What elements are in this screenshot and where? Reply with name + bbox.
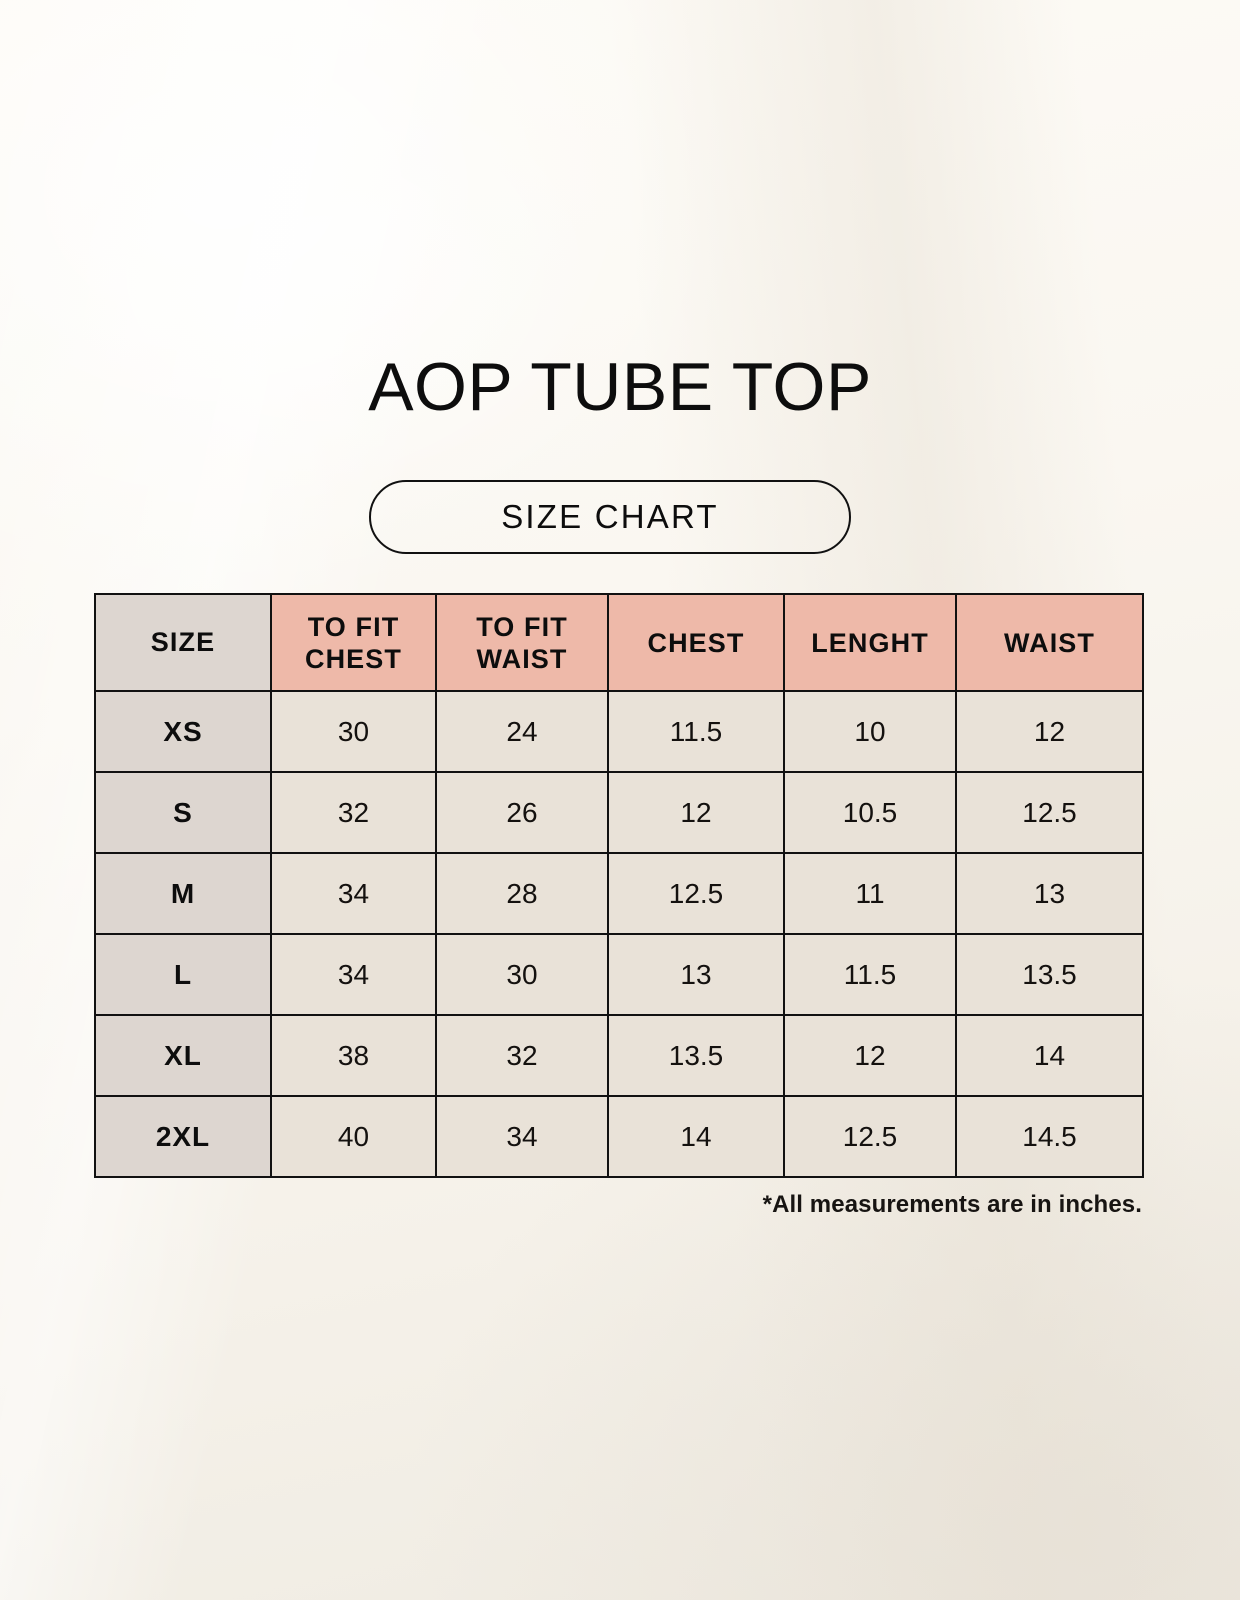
page-title: AOP TUBE TOP <box>0 352 1240 422</box>
column-header-to-fit-chest: TO FIT CHEST <box>271 594 436 691</box>
column-header-chest: CHEST <box>608 594 784 691</box>
cell-to-fit-chest: 34 <box>271 934 436 1015</box>
table-row: S 32 26 12 10.5 12.5 <box>95 772 1143 853</box>
cell-lenght: 11 <box>784 853 956 934</box>
cell-waist: 13 <box>956 853 1143 934</box>
cell-lenght: 12.5 <box>784 1096 956 1177</box>
cell-size: S <box>95 772 271 853</box>
cell-waist: 14 <box>956 1015 1143 1096</box>
cell-waist: 12.5 <box>956 772 1143 853</box>
size-chart-badge: SIZE CHART <box>369 480 851 554</box>
cell-chest: 12.5 <box>608 853 784 934</box>
size-chart-table: SIZE TO FIT CHEST TO FIT WAIST CHEST LEN <box>94 593 1144 1178</box>
cell-size: L <box>95 934 271 1015</box>
column-header-chest-label: CHEST <box>647 628 744 658</box>
size-chart-table-container: SIZE TO FIT CHEST TO FIT WAIST CHEST LEN <box>94 593 1142 1178</box>
cell-to-fit-waist: 32 <box>436 1015 608 1096</box>
size-chart-badge-label: SIZE CHART <box>501 500 719 534</box>
cell-waist: 13.5 <box>956 934 1143 1015</box>
measurements-footnote: *All measurements are in inches. <box>94 1190 1142 1220</box>
cell-chest: 14 <box>608 1096 784 1177</box>
column-header-waist: WAIST <box>956 594 1143 691</box>
column-header-size-label: SIZE <box>151 627 215 657</box>
cell-lenght: 10 <box>784 691 956 772</box>
cell-chest: 12 <box>608 772 784 853</box>
cell-size: M <box>95 853 271 934</box>
table-row: 2XL 40 34 14 12.5 14.5 <box>95 1096 1143 1177</box>
cell-lenght: 12 <box>784 1015 956 1096</box>
table-header-row: SIZE TO FIT CHEST TO FIT WAIST CHEST LEN <box>95 594 1143 691</box>
table-header: SIZE TO FIT CHEST TO FIT WAIST CHEST LEN <box>95 594 1143 691</box>
cell-to-fit-chest: 34 <box>271 853 436 934</box>
column-header-size: SIZE <box>95 594 271 691</box>
cell-to-fit-chest: 32 <box>271 772 436 853</box>
column-header-to-fit-chest-line2: CHEST <box>272 643 435 675</box>
cell-lenght: 11.5 <box>784 934 956 1015</box>
cell-size: XS <box>95 691 271 772</box>
cell-to-fit-waist: 24 <box>436 691 608 772</box>
table-row: XS 30 24 11.5 10 12 <box>95 691 1143 772</box>
cell-size: XL <box>95 1015 271 1096</box>
cell-chest: 13.5 <box>608 1015 784 1096</box>
cell-to-fit-chest: 30 <box>271 691 436 772</box>
cell-to-fit-chest: 38 <box>271 1015 436 1096</box>
cell-lenght: 10.5 <box>784 772 956 853</box>
column-header-to-fit-waist-line2: WAIST <box>437 643 607 675</box>
cell-to-fit-waist: 34 <box>436 1096 608 1177</box>
cell-to-fit-waist: 26 <box>436 772 608 853</box>
column-header-to-fit-waist-line1: TO FIT <box>437 611 607 643</box>
cell-to-fit-waist: 28 <box>436 853 608 934</box>
column-header-to-fit-chest-line1: TO FIT <box>272 611 435 643</box>
column-header-lenght-label: LENGHT <box>811 628 929 658</box>
cell-chest: 13 <box>608 934 784 1015</box>
column-header-to-fit-waist: TO FIT WAIST <box>436 594 608 691</box>
table-row: L 34 30 13 11.5 13.5 <box>95 934 1143 1015</box>
cell-chest: 11.5 <box>608 691 784 772</box>
cell-waist: 12 <box>956 691 1143 772</box>
table-row: XL 38 32 13.5 12 14 <box>95 1015 1143 1096</box>
column-header-lenght: LENGHT <box>784 594 956 691</box>
cell-size: 2XL <box>95 1096 271 1177</box>
table-body: XS 30 24 11.5 10 12 S 32 26 12 10.5 12.5… <box>95 691 1143 1177</box>
table-row: M 34 28 12.5 11 13 <box>95 853 1143 934</box>
column-header-waist-label: WAIST <box>1004 628 1095 658</box>
cell-to-fit-chest: 40 <box>271 1096 436 1177</box>
cell-to-fit-waist: 30 <box>436 934 608 1015</box>
cell-waist: 14.5 <box>956 1096 1143 1177</box>
